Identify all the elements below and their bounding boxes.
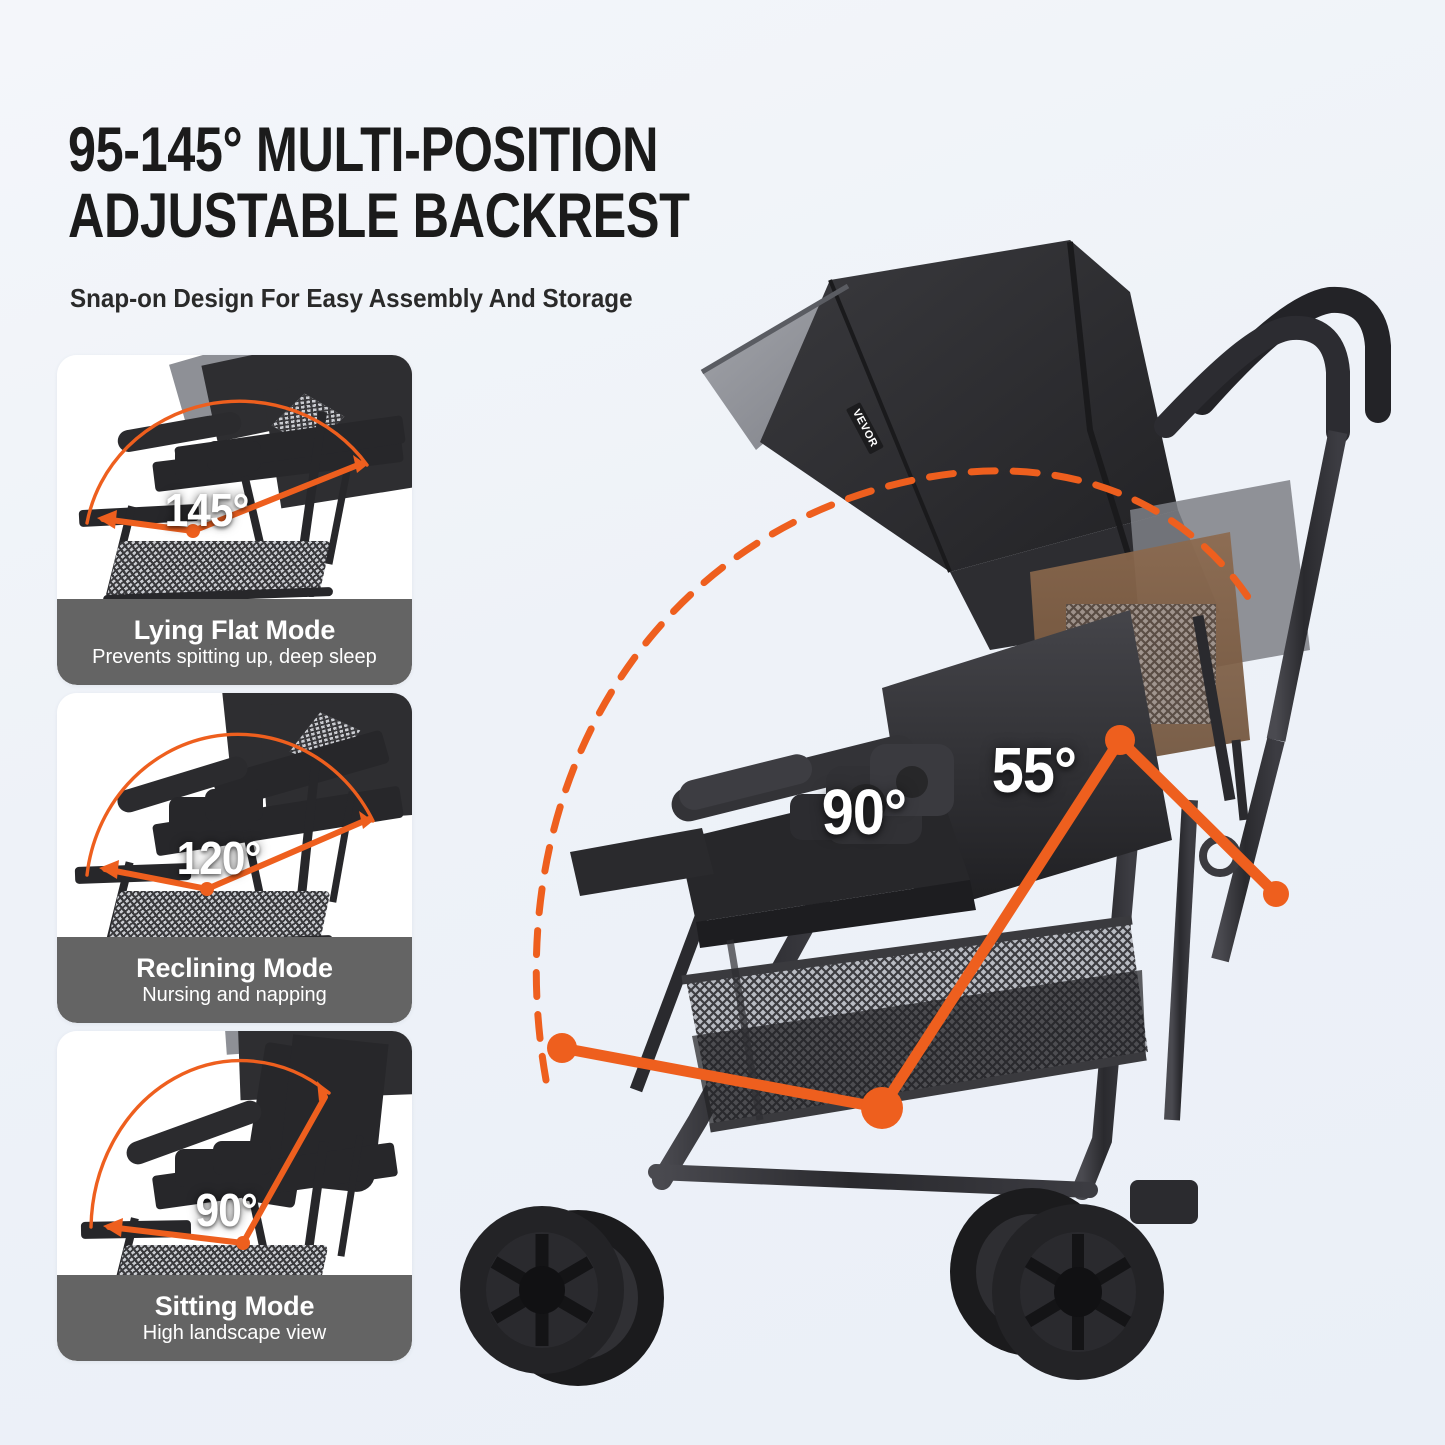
- frame-cross-brace: [656, 1172, 1090, 1190]
- hero-angle-label-recline: 55°: [992, 733, 1076, 807]
- stroller-thumbnail-photo: 120°: [57, 693, 412, 1023]
- rear-wheel-assembly: [950, 1180, 1198, 1380]
- marketing-banner: 95-145° MULTI-POSITION ADJUSTABLE BACKRE…: [0, 0, 1445, 1445]
- brake-pedal: [1130, 1180, 1198, 1224]
- hero-angle-label-seat: 90°: [822, 775, 906, 849]
- stroller-illustration: [430, 180, 1440, 1440]
- angle-node-front: [547, 1033, 577, 1063]
- card-angle-value: 90°: [196, 1183, 257, 1237]
- stroller-hero-image: VEVOR 90° 55°: [430, 180, 1440, 1440]
- front-wheel-assembly: [460, 1206, 664, 1386]
- card-angle-value: 145°: [165, 483, 249, 537]
- handlebar-front: [1166, 328, 1338, 432]
- angle-vertex: [861, 1087, 903, 1129]
- mode-card-sitting[interactable]: 90° Sitting Mode High landscape view: [57, 1031, 412, 1361]
- mode-card-lying-flat[interactable]: 145° Lying Flat Mode Prevents spitting u…: [57, 355, 412, 685]
- headline-line-1: 95-145° MULTI-POSITION: [68, 115, 658, 185]
- mode-card-list: 145° Lying Flat Mode Prevents spitting u…: [57, 355, 412, 1369]
- stroller-thumbnail-photo: 145°: [57, 355, 412, 685]
- card-angle-value: 120°: [177, 831, 261, 885]
- stroller-thumbnail-photo: 90°: [57, 1031, 412, 1361]
- mode-card-reclining[interactable]: 120° Reclining Mode Nursing and napping: [57, 693, 412, 1023]
- angle-node-rear: [1263, 881, 1289, 907]
- angle-node-top: [1105, 725, 1135, 755]
